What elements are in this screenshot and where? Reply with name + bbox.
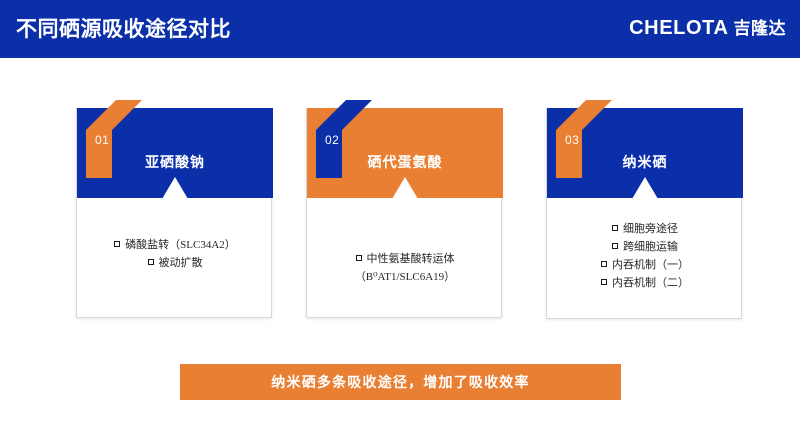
list-item: 磷酸盐转（SLC34A2）	[77, 236, 273, 254]
card-bullet-list: 磷酸盐转（SLC34A2） 被动扩散	[77, 236, 273, 272]
list-item-label: 被动扩散	[159, 257, 203, 269]
list-item-label: 细胞旁途径	[623, 223, 678, 235]
list-item-label: 内吞机制（二）	[612, 277, 689, 289]
list-item-continuation: （B⁰AT1/SLC6A19）	[307, 268, 503, 286]
corner-ribbon: 03	[556, 100, 612, 178]
brand-logo-latin: CHELOTA	[629, 17, 728, 40]
square-bullet-icon	[601, 279, 607, 285]
summary-banner-text: 纳米硒多条吸收途径，增加了吸收效率	[271, 372, 529, 392]
card-bullet-list: 细胞旁途径 跨细胞运输 内吞机制（一） 内吞机制（二）	[547, 220, 743, 292]
square-bullet-icon	[612, 225, 618, 231]
list-item: 内吞机制（二）	[547, 274, 743, 292]
brand-logo-cjk: 吉隆达	[734, 14, 787, 39]
list-item-label: 内吞机制（一）	[612, 259, 689, 271]
list-item: 内吞机制（一）	[547, 256, 743, 274]
corner-ribbon: 01	[86, 100, 142, 178]
card-number: 01	[95, 133, 109, 147]
page-title: 不同硒源吸收途径对比	[16, 13, 231, 43]
brand-logo: CHELOTA 吉隆达	[629, 14, 786, 40]
list-item-label: 中性氨基酸转运体	[367, 253, 455, 265]
square-bullet-icon	[356, 255, 362, 261]
summary-banner: 纳米硒多条吸收途径，增加了吸收效率	[180, 364, 621, 400]
page-header: 不同硒源吸收途径对比 CHELOTA 吉隆达	[0, 0, 800, 58]
list-item-label: 磷酸盐转（SLC34A2）	[125, 239, 236, 251]
square-bullet-icon	[114, 241, 120, 247]
list-item: 跨细胞运输	[547, 238, 743, 256]
card-number: 03	[565, 133, 579, 147]
list-item: 细胞旁途径	[547, 220, 743, 238]
square-bullet-icon	[601, 261, 607, 267]
card-number: 02	[325, 133, 339, 147]
notch-triangle-icon	[162, 177, 188, 198]
notch-triangle-icon	[632, 177, 658, 198]
cards-row: 亚硒酸钠 磷酸盐转（SLC34A2） 被动扩散 01 硒代蛋氨酸	[0, 100, 800, 330]
notch-triangle-icon	[392, 177, 418, 198]
card-bullet-list: 中性氨基酸转运体 （B⁰AT1/SLC6A19）	[307, 250, 503, 286]
corner-ribbon: 02	[316, 100, 372, 178]
list-item: 被动扩散	[77, 254, 273, 272]
list-item-label: 跨细胞运输	[623, 241, 678, 253]
list-item: 中性氨基酸转运体	[307, 250, 503, 268]
square-bullet-icon	[612, 243, 618, 249]
square-bullet-icon	[148, 259, 154, 265]
